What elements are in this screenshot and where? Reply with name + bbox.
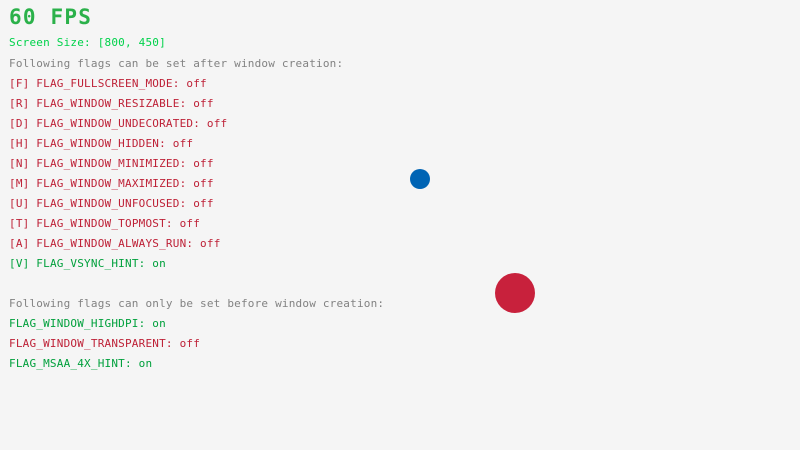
flag-name: FLAG_MSAA_4X_HINT: (9, 357, 139, 370)
flag-state-value: off (173, 137, 193, 150)
runtime-flag-flag-vsync-hint[interactable]: [V] FLAG_VSYNC_HINT: on (9, 258, 166, 270)
flag-shortcut-key: [V] (9, 257, 36, 270)
flag-name: FLAG_WINDOW_TOPMOST: (36, 217, 179, 230)
runtime-flag-flag-window-undecorated[interactable]: [D] FLAG_WINDOW_UNDECORATED: off (9, 118, 227, 130)
flag-shortcut-key: [T] (9, 217, 36, 230)
flag-name: FLAG_WINDOW_UNFOCUSED: (36, 197, 193, 210)
flag-shortcut-key: [N] (9, 157, 36, 170)
flag-name: FLAG_WINDOW_HIGHDPI: (9, 317, 152, 330)
flag-name: FLAG_WINDOW_MINIMIZED: (36, 157, 193, 170)
flag-name: FLAG_WINDOW_MAXIMIZED: (36, 177, 193, 190)
flag-state-value: off (193, 97, 213, 110)
flag-name: FLAG_WINDOW_HIDDEN: (36, 137, 172, 150)
flag-name: FLAG_WINDOW_TRANSPARENT: (9, 337, 180, 350)
runtime-flag-flag-fullscreen-mode[interactable]: [F] FLAG_FULLSCREEN_MODE: off (9, 78, 207, 90)
flag-state-value: on (152, 257, 166, 270)
runtime-flag-flag-window-minimized[interactable]: [N] FLAG_WINDOW_MINIMIZED: off (9, 158, 214, 170)
flag-name: FLAG_WINDOW_ALWAYS_RUN: (36, 237, 200, 250)
flag-name: FLAG_WINDOW_UNDECORATED: (36, 117, 207, 130)
flag-state-value: on (139, 357, 153, 370)
section-header-creation-flags: Following flags can only be set before w… (9, 298, 384, 310)
screen-size-label: Screen Size: [800, 450] (9, 37, 166, 49)
creation-flag-flag-window-highdpi[interactable]: FLAG_WINDOW_HIGHDPI: on (9, 318, 166, 330)
section-header-runtime-flags: Following flags can be set after window … (9, 58, 343, 70)
runtime-flag-flag-window-topmost[interactable]: [T] FLAG_WINDOW_TOPMOST: off (9, 218, 200, 230)
creation-flag-flag-window-transparent[interactable]: FLAG_WINDOW_TRANSPARENT: off (9, 338, 200, 350)
flag-state-value: off (180, 337, 200, 350)
flag-state-value: off (200, 237, 220, 250)
flag-state-value: off (207, 117, 227, 130)
flag-shortcut-key: [M] (9, 177, 36, 190)
flag-shortcut-key: [F] (9, 77, 36, 90)
flag-state-value: off (186, 77, 206, 90)
flag-shortcut-key: [H] (9, 137, 36, 150)
flag-name: FLAG_VSYNC_HINT: (36, 257, 152, 270)
runtime-flag-flag-window-maximized[interactable]: [M] FLAG_WINDOW_MAXIMIZED: off (9, 178, 214, 190)
hud-overlay: 60 FPS Screen Size: [800, 450] Following… (0, 0, 800, 450)
flag-shortcut-key: [R] (9, 97, 36, 110)
flag-shortcut-key: [D] (9, 117, 36, 130)
flag-state-value: off (193, 197, 213, 210)
runtime-flag-flag-window-unfocused[interactable]: [U] FLAG_WINDOW_UNFOCUSED: off (9, 198, 214, 210)
flag-state-value: off (193, 177, 213, 190)
flag-state-value: off (193, 157, 213, 170)
flag-name: FLAG_WINDOW_RESIZABLE: (36, 97, 193, 110)
flag-state-value: on (152, 317, 166, 330)
flag-shortcut-key: [U] (9, 197, 36, 210)
raylib-window-flags-demo: 60 FPS Screen Size: [800, 450] Following… (0, 0, 800, 450)
flag-state-value: off (180, 217, 200, 230)
runtime-flag-flag-window-hidden[interactable]: [H] FLAG_WINDOW_HIDDEN: off (9, 138, 193, 150)
creation-flag-flag-msaa-4x-hint[interactable]: FLAG_MSAA_4X_HINT: on (9, 358, 152, 370)
fps-counter: 60 FPS (9, 7, 92, 28)
flag-name: FLAG_FULLSCREEN_MODE: (36, 77, 186, 90)
runtime-flag-flag-window-always-run[interactable]: [A] FLAG_WINDOW_ALWAYS_RUN: off (9, 238, 221, 250)
flag-shortcut-key: [A] (9, 237, 36, 250)
runtime-flag-flag-window-resizable[interactable]: [R] FLAG_WINDOW_RESIZABLE: off (9, 98, 214, 110)
